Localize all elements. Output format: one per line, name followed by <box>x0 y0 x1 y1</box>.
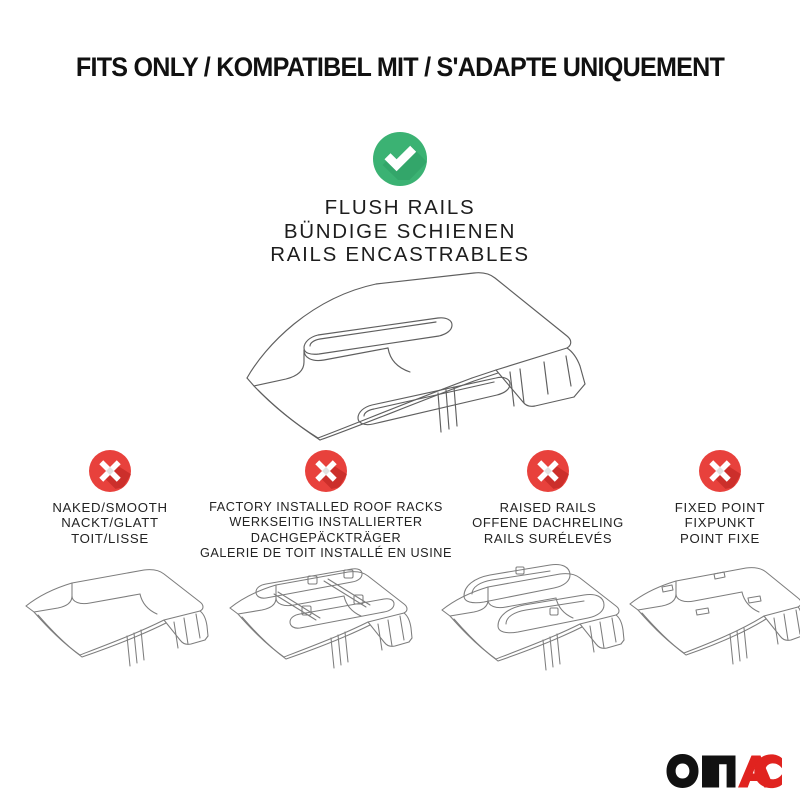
car-roof-raised-rails-diagram <box>428 556 633 711</box>
car-roof-factory-installed-racks-diagram <box>216 556 421 711</box>
incompatible-label-en: FACTORY INSTALLED ROOF RACKS <box>198 500 454 515</box>
incompatible-label-de-2: DACHGEPÄCKTRÄGER <box>198 531 454 546</box>
car-roof-fixed-point-diagram <box>618 556 800 711</box>
incompatible-label-de: FIXPUNKT <box>640 515 800 530</box>
cross-circle-icon <box>699 450 741 492</box>
compatible-labels: FLUSH RAILS BÜNDIGE SCHIENEN RAILS ENCAS… <box>0 196 800 267</box>
incompatible-label-de-1: WERKSEITIG INSTALLIERTER <box>198 515 454 530</box>
incompatible-labels-fixed-point: FIXED POINT FIXPUNKT POINT FIXE <box>640 500 800 546</box>
car-roof-with-flush-rails-diagram <box>238 266 588 451</box>
incompatible-label-en: NAKED/SMOOTH <box>12 500 208 515</box>
incompatible-label-fr: TOIT/LISSE <box>12 531 208 546</box>
incompatible-section-naked-smooth: NAKED/SMOOTH NACKT/GLATT TOIT/LISSE <box>12 450 208 546</box>
incompatible-label-fr: RAILS SURÉLEVÉS <box>448 531 648 546</box>
compatible-label-fr: RAILS ENCASTRABLES <box>0 243 800 267</box>
incompatible-section-factory-racks: FACTORY INSTALLED ROOF RACKS WERKSEITIG … <box>198 450 454 562</box>
car-roof-naked-smooth-diagram <box>14 556 209 711</box>
incompatible-label-en: FIXED POINT <box>640 500 800 515</box>
incompatible-label-de: OFFENE DACHRELING <box>448 515 648 530</box>
compatible-label-en: FLUSH RAILS <box>0 196 800 220</box>
incompatible-section-raised-rails: RAISED RAILS OFFENE DACHRELING RAILS SUR… <box>448 450 648 546</box>
compatible-section: FLUSH RAILS BÜNDIGE SCHIENEN RAILS ENCAS… <box>0 132 800 267</box>
check-circle-icon <box>373 132 427 186</box>
infographic-canvas: FITS ONLY / KOMPATIBEL MIT / S'ADAPTE UN… <box>0 0 800 800</box>
page-title: FITS ONLY / KOMPATIBEL MIT / S'ADAPTE UN… <box>28 52 772 83</box>
incompatible-labels-factory-racks: FACTORY INSTALLED ROOF RACKS WERKSEITIG … <box>198 500 454 562</box>
incompatible-section-fixed-point: FIXED POINT FIXPUNKT POINT FIXE <box>640 450 800 546</box>
cross-circle-icon <box>305 450 347 492</box>
incompatible-labels-raised-rails: RAISED RAILS OFFENE DACHRELING RAILS SUR… <box>448 500 648 546</box>
cross-circle-icon <box>527 450 569 492</box>
incompatible-label-fr: POINT FIXE <box>640 531 800 546</box>
incompatible-label-de: NACKT/GLATT <box>12 515 208 530</box>
compatible-label-de: BÜNDIGE SCHIENEN <box>0 220 800 244</box>
incompatible-label-en: RAISED RAILS <box>448 500 648 515</box>
omac-logo <box>666 752 786 790</box>
incompatible-labels-naked-smooth: NAKED/SMOOTH NACKT/GLATT TOIT/LISSE <box>12 500 208 546</box>
cross-circle-icon <box>89 450 131 492</box>
